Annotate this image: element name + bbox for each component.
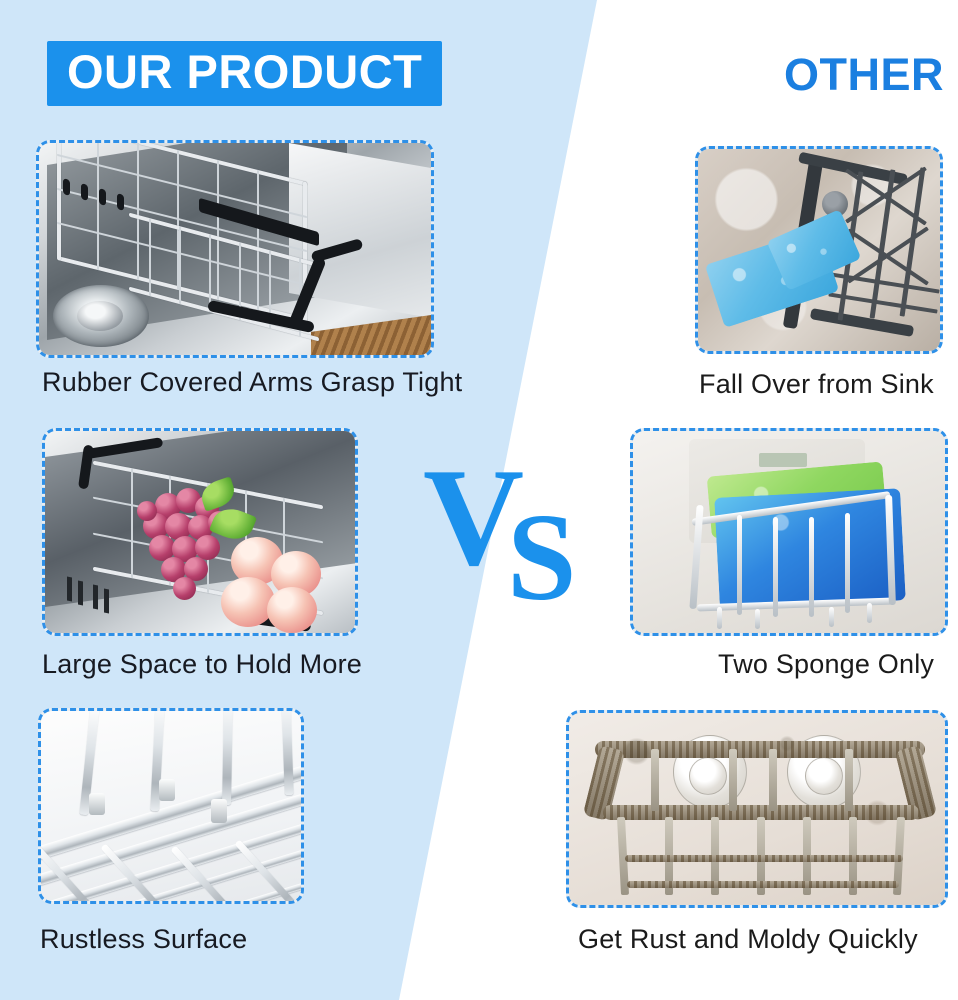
photo-rubber-arms [39, 143, 431, 355]
photo-two-sponge-only [633, 431, 945, 633]
left-caption-2: Large Space to Hold More [42, 650, 362, 680]
photo-large-space [45, 431, 355, 633]
left-photo-2-frame [42, 428, 358, 636]
photo-rust-and-moldy [569, 713, 945, 905]
comparison-infographic: OUR PRODUCT OTHER [0, 0, 958, 1000]
right-photo-1-frame [695, 146, 943, 354]
photo-rustless-surface [41, 711, 301, 901]
left-photo-3-frame [38, 708, 304, 904]
photo-fall-over-from-sink [698, 149, 940, 351]
our-product-header-badge: OUR PRODUCT [47, 41, 442, 106]
right-caption-1: Fall Over from Sink [699, 370, 934, 400]
vs-letter-s: S [507, 496, 577, 621]
our-product-header-text: OUR PRODUCT [67, 48, 422, 95]
right-photo-2-frame [630, 428, 948, 636]
right-photo-3-frame [566, 710, 948, 908]
left-caption-1: Rubber Covered Arms Grasp Tight [42, 368, 462, 398]
other-header-text: OTHER [784, 52, 944, 97]
right-caption-3: Get Rust and Moldy Quickly [578, 925, 918, 955]
right-caption-2: Two Sponge Only [718, 650, 934, 680]
left-caption-3: Rustless Surface [40, 925, 247, 955]
left-photo-1-frame [36, 140, 434, 358]
